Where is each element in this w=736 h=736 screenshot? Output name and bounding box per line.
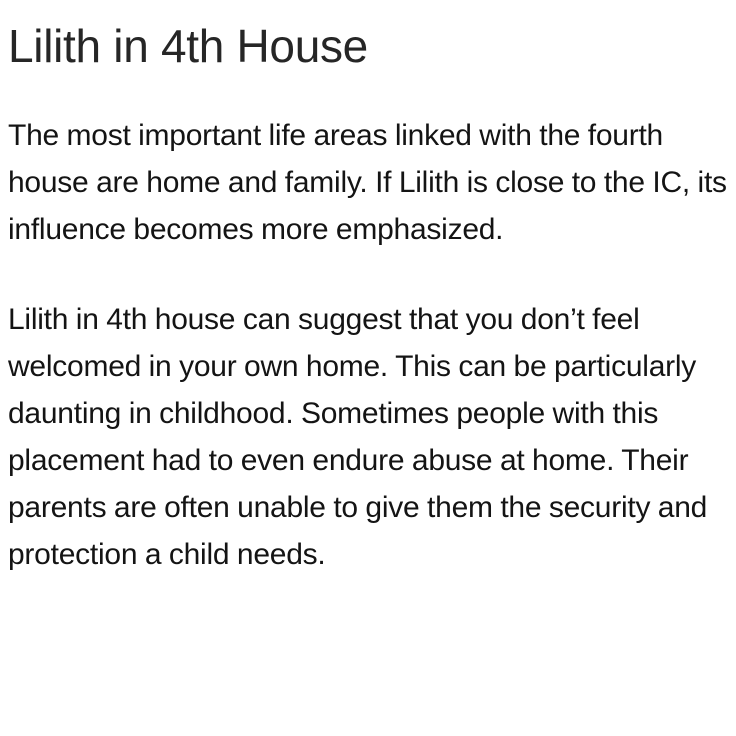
page-title: Lilith in 4th House [8,18,730,74]
article-container: Lilith in 4th House The most important l… [0,0,736,736]
article-body: The most important life areas linked wit… [8,112,730,578]
body-paragraph-1: The most important life areas linked wit… [8,112,730,253]
body-paragraph-2: Lilith in 4th house can suggest that you… [8,296,730,578]
